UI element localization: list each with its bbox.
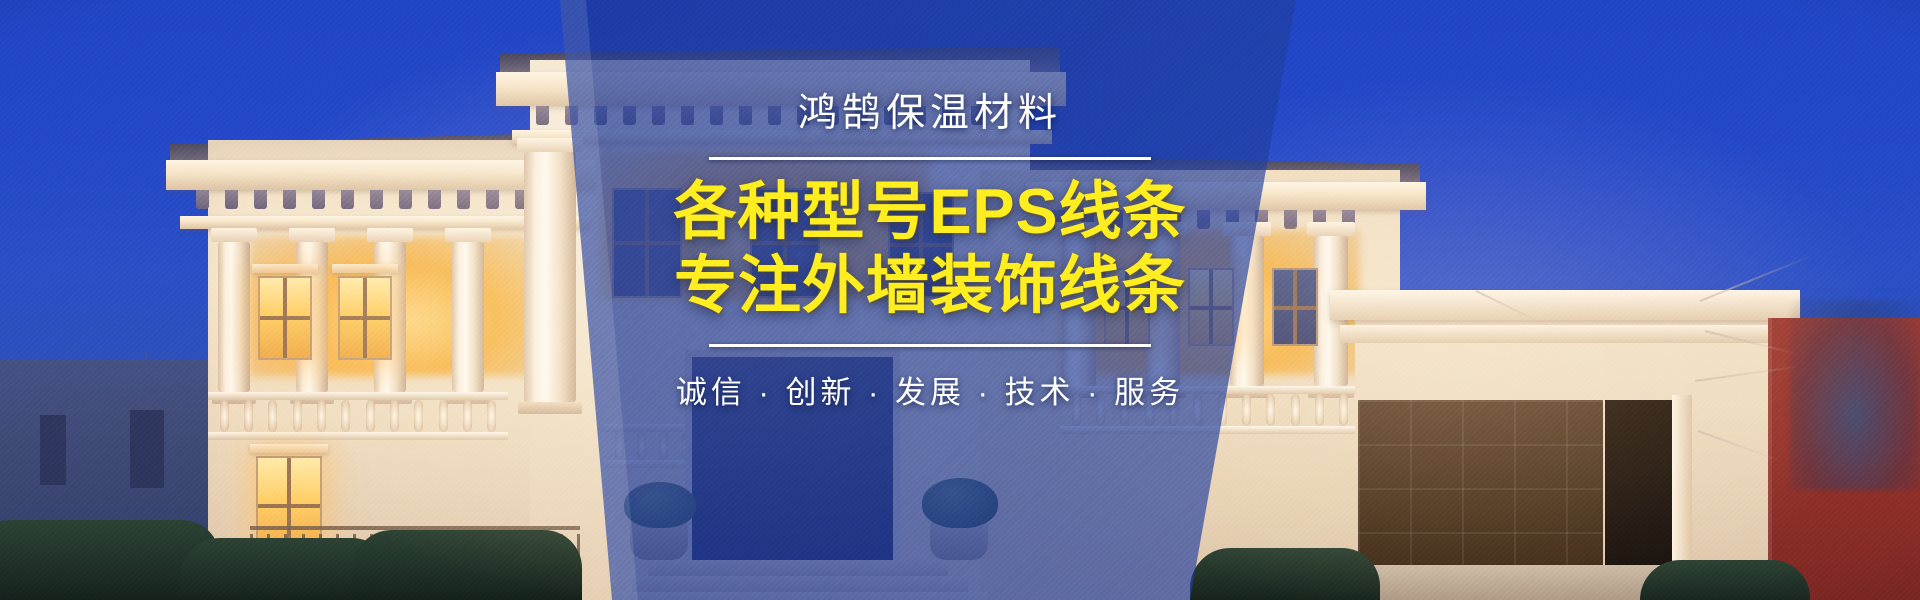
hero-banner: 鸿鹄保温材料 各种型号EPS线条 专注外墙装饰线条 诚信 · 创新 · 发展 ·… xyxy=(0,0,1920,600)
divider-bottom xyxy=(709,344,1151,347)
divider-top xyxy=(709,157,1151,160)
tagline: 诚信 · 创新 · 发展 · 技术 · 服务 xyxy=(560,367,1300,412)
brand-name: 鸿鹄保温材料 xyxy=(560,92,1300,137)
banner-copy: 鸿鹄保温材料 各种型号EPS线条 专注外墙装饰线条 诚信 · 创新 · 发展 ·… xyxy=(560,92,1300,412)
headline-line-1: 各种型号EPS线条 xyxy=(560,177,1300,249)
headline-line-2: 专注外墙装饰线条 xyxy=(560,251,1300,323)
